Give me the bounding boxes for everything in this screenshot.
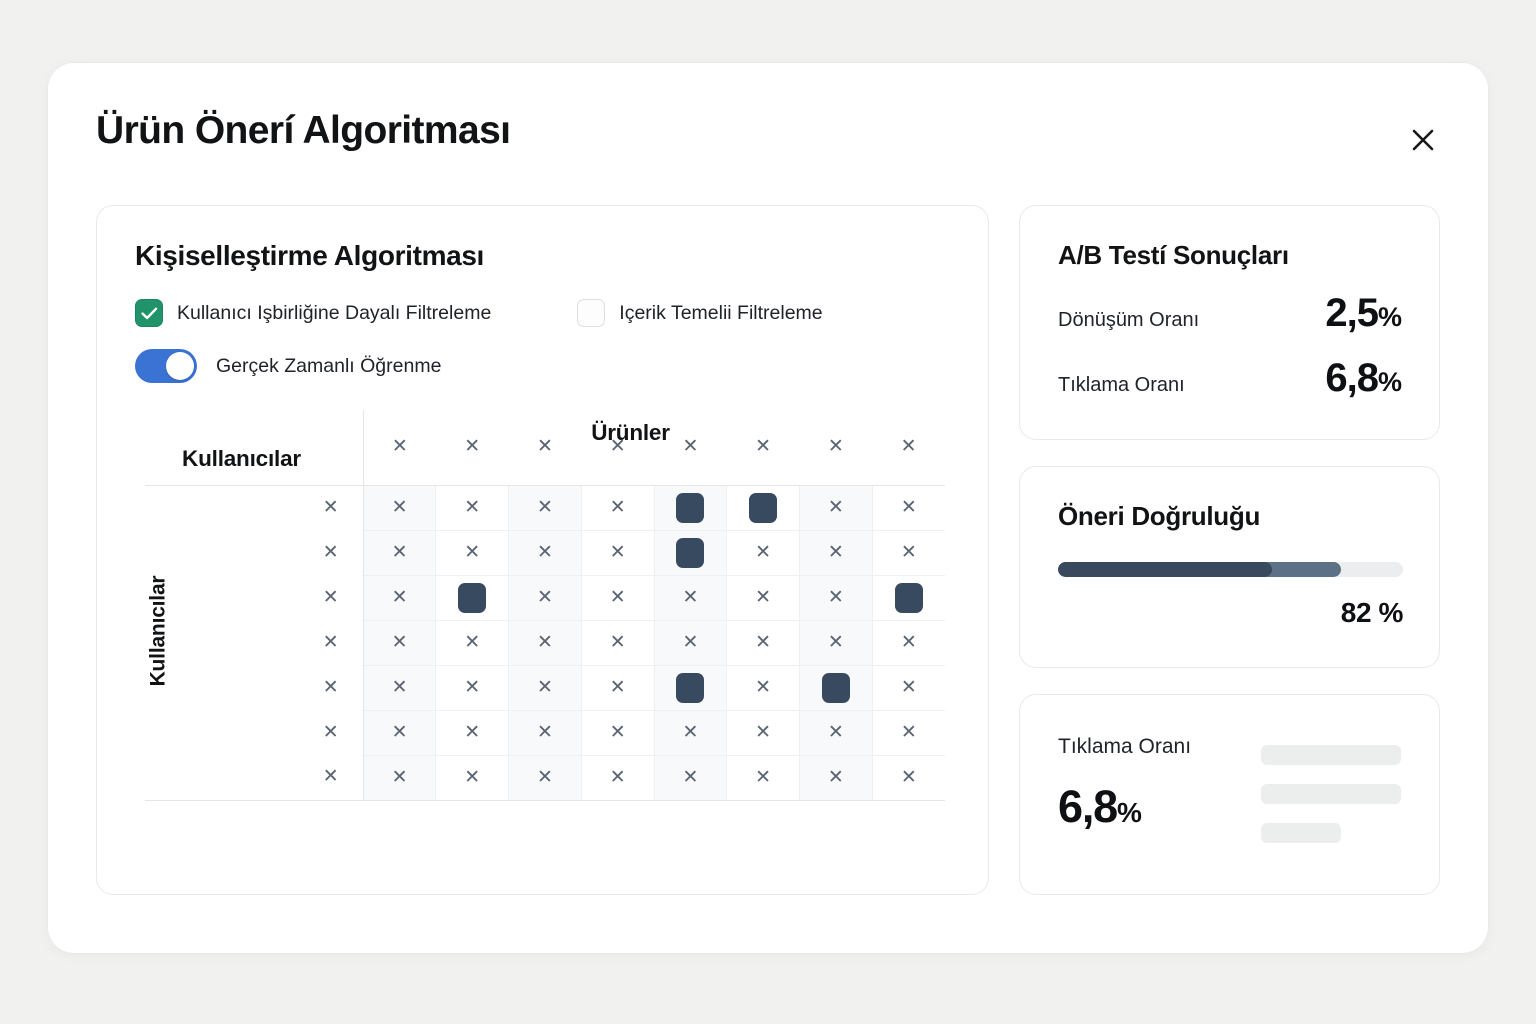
matrix-row: ✕✕✕✕✕✕✕✕✕ xyxy=(145,710,945,755)
matrix-row: ✕✕✕✕✕✕✕ xyxy=(145,665,945,710)
matrix-cell-empty[interactable]: ✕ xyxy=(363,485,436,530)
matrix-row: ✕✕✕✕✕✕✕ xyxy=(145,575,945,620)
matrix-column-header: ✕ xyxy=(581,410,654,485)
realtime-learning-row: Gerçek Zamanlı Öğrenme xyxy=(135,349,950,383)
x-icon: ✕ xyxy=(610,723,626,742)
matrix-header-row: ✕✕✕✕✕✕✕✕ xyxy=(145,410,945,485)
x-icon: ✕ xyxy=(755,588,771,607)
click-through-rate-card: Tıklama Oranı 6,8% xyxy=(1019,694,1440,895)
matrix-cell-empty[interactable]: ✕ xyxy=(799,530,872,575)
checkbox-collaborative-filtering[interactable]: Kullanıcı Işbirliğine Dayalı Filtreleme xyxy=(135,299,491,327)
matrix-cell-empty[interactable]: ✕ xyxy=(509,620,582,665)
x-icon: ✕ xyxy=(537,588,553,607)
checkbox-content-based-filtering-label: Içerik Temelii Filtreleme xyxy=(619,302,822,325)
accuracy-progress-bar xyxy=(1058,562,1403,577)
matrix-column-header: ✕ xyxy=(799,410,872,485)
matrix-row-header: ✕ xyxy=(145,530,363,575)
toggle-realtime-learning-label: Gerçek Zamanlı Öğrenme xyxy=(216,355,441,378)
x-icon: ✕ xyxy=(537,723,553,742)
user-product-matrix: Kullanıcılar Ürünler Kullanıcılar ✕✕✕✕✕✕… xyxy=(135,410,965,830)
matrix-cell-marker xyxy=(676,673,704,703)
matrix-cell-marker xyxy=(749,493,777,523)
x-icon: ✕ xyxy=(828,768,844,787)
section-title: Kişiselleştirme Algoritması xyxy=(135,240,950,272)
matrix-row-header: ✕ xyxy=(145,575,363,620)
ctr-card-value: 6,8% xyxy=(1058,781,1191,833)
x-icon: ✕ xyxy=(323,678,339,697)
matrix-cell-empty[interactable]: ✕ xyxy=(581,620,654,665)
x-icon: ✕ xyxy=(610,678,626,697)
x-icon: ✕ xyxy=(755,768,771,787)
matrix-cell-empty[interactable]: ✕ xyxy=(872,755,945,800)
matrix-cell-filled[interactable] xyxy=(799,665,872,710)
matrix-cell-marker xyxy=(458,583,486,613)
x-icon: ✕ xyxy=(682,768,698,787)
matrix-cell-filled[interactable] xyxy=(654,485,727,530)
metric-value-click-through-rate: 6,8% xyxy=(1325,356,1401,401)
x-icon: ✕ xyxy=(901,633,917,652)
matrix-row-header: ✕ xyxy=(145,665,363,710)
matrix-cell-empty[interactable]: ✕ xyxy=(654,710,727,755)
matrix-cell-empty[interactable]: ✕ xyxy=(872,665,945,710)
matrix-row-header: ✕ xyxy=(145,485,363,530)
matrix-table-area: ✕✕✕✕✕✕✕✕ ✕✕✕✕✕✕✕✕✕✕✕✕✕✕✕✕✕✕✕✕✕✕✕✕✕✕✕✕✕✕✕… xyxy=(145,410,945,801)
x-icon: ✕ xyxy=(682,723,698,742)
matrix-cell-empty[interactable]: ✕ xyxy=(509,665,582,710)
toggle-knob xyxy=(166,352,194,380)
x-icon: ✕ xyxy=(537,768,553,787)
x-icon: ✕ xyxy=(828,588,844,607)
matrix-cell-empty[interactable]: ✕ xyxy=(727,575,800,620)
x-icon: ✕ xyxy=(828,498,844,517)
accuracy-progress-value: 82 % xyxy=(1058,597,1403,629)
matrix-cell-empty[interactable]: ✕ xyxy=(581,710,654,755)
matrix-cell-marker xyxy=(676,538,704,568)
matrix-cell-empty[interactable]: ✕ xyxy=(872,710,945,755)
ctr-card-grid: Tıklama Oranı 6,8% xyxy=(1058,733,1401,843)
metric-unit-conversion-rate: % xyxy=(1378,302,1401,332)
ctr-card-value-number: 6,8 xyxy=(1058,781,1117,832)
x-icon: ✕ xyxy=(537,498,553,517)
metric-label-conversion-rate: Dönüşüm Oranı xyxy=(1058,309,1199,332)
matrix-cell-empty[interactable]: ✕ xyxy=(799,485,872,530)
product-recommendation-dialog: Ürün Önerí Algoritması Kişiselleştirme A… xyxy=(48,63,1488,953)
matrix-cell-filled[interactable] xyxy=(872,575,945,620)
ctr-card-left: Tıklama Oranı 6,8% xyxy=(1058,733,1191,833)
matrix-cell-empty[interactable]: ✕ xyxy=(799,575,872,620)
matrix-cell-empty[interactable]: ✕ xyxy=(436,620,509,665)
ctr-card-value-unit: % xyxy=(1117,797,1141,828)
metrics-column: A/B Testí Sonuçları Dönüşüm Oranı 2,5% T… xyxy=(1019,205,1440,895)
matrix-column-header: ✕ xyxy=(654,410,727,485)
matrix-cell-empty[interactable]: ✕ xyxy=(363,710,436,755)
x-icon: ✕ xyxy=(682,588,698,607)
checkbox-unchecked-icon[interactable] xyxy=(577,299,605,327)
x-icon: ✕ xyxy=(464,437,480,456)
x-icon: ✕ xyxy=(537,633,553,652)
toggle-realtime-learning[interactable]: Gerçek Zamanlı Öğrenme xyxy=(135,349,441,383)
x-icon: ✕ xyxy=(828,437,844,456)
personalization-algorithm-panel: Kişiselleştirme Algoritması Kullanıcı Iş… xyxy=(96,205,989,895)
matrix-column-header: ✕ xyxy=(727,410,800,485)
matrix-cell-empty[interactable]: ✕ xyxy=(581,575,654,620)
matrix-cell-empty[interactable]: ✕ xyxy=(581,755,654,800)
matrix-corner-cell xyxy=(145,410,363,485)
matrix-cell-empty[interactable]: ✕ xyxy=(872,485,945,530)
matrix-column-header: ✕ xyxy=(509,410,582,485)
x-icon: ✕ xyxy=(392,543,408,562)
x-icon: ✕ xyxy=(610,768,626,787)
matrix-cell-empty[interactable]: ✕ xyxy=(872,620,945,665)
checkbox-content-based-filtering[interactable]: Içerik Temelii Filtreleme xyxy=(577,299,822,327)
matrix-cell-empty[interactable]: ✕ xyxy=(436,755,509,800)
matrix-row-header: ✕ xyxy=(145,755,363,800)
x-icon: ✕ xyxy=(537,678,553,697)
x-icon: ✕ xyxy=(464,678,480,697)
x-icon: ✕ xyxy=(682,437,698,456)
matrix-cell-empty[interactable]: ✕ xyxy=(509,485,582,530)
matrix-cell-empty[interactable]: ✕ xyxy=(509,710,582,755)
x-icon: ✕ xyxy=(323,767,339,786)
x-icon: ✕ xyxy=(323,498,339,517)
matrix-cell-empty[interactable]: ✕ xyxy=(654,755,727,800)
matrix-cell-empty[interactable]: ✕ xyxy=(654,575,727,620)
recommendation-accuracy-title: Öneri Doğruluğu xyxy=(1058,501,1401,532)
x-icon: ✕ xyxy=(464,723,480,742)
x-icon: ✕ xyxy=(755,633,771,652)
matrix-column-header: ✕ xyxy=(363,410,436,485)
x-icon: ✕ xyxy=(682,633,698,652)
x-icon: ✕ xyxy=(901,678,917,697)
x-icon: ✕ xyxy=(392,498,408,517)
x-icon: ✕ xyxy=(755,437,771,456)
matrix-body: ✕✕✕✕✕✕✕✕✕✕✕✕✕✕✕✕✕✕✕✕✕✕✕✕✕✕✕✕✕✕✕✕✕✕✕✕✕✕✕✕… xyxy=(145,485,945,800)
matrix-cell-empty[interactable]: ✕ xyxy=(509,575,582,620)
metric-value-click-through-rate-number: 6,8 xyxy=(1325,356,1378,400)
matrix-row-header: ✕ xyxy=(145,710,363,755)
x-icon: ✕ xyxy=(610,588,626,607)
matrix-cell-empty[interactable]: ✕ xyxy=(799,755,872,800)
matrix-cell-empty[interactable]: ✕ xyxy=(727,665,800,710)
x-icon: ✕ xyxy=(610,498,626,517)
metric-row-conversion-rate: Dönüşüm Oranı 2,5% xyxy=(1058,291,1401,336)
x-icon: ✕ xyxy=(610,437,626,456)
toggle-switch-on-icon[interactable] xyxy=(135,349,197,383)
matrix-cell-empty[interactable]: ✕ xyxy=(799,710,872,755)
x-icon: ✕ xyxy=(901,543,917,562)
matrix-cell-empty[interactable]: ✕ xyxy=(727,755,800,800)
x-icon: ✕ xyxy=(464,543,480,562)
skeleton-bar xyxy=(1261,745,1401,765)
matrix-cell-marker xyxy=(822,673,850,703)
x-icon: ✕ xyxy=(755,678,771,697)
x-icon: ✕ xyxy=(828,543,844,562)
x-icon: ✕ xyxy=(323,588,339,607)
matrix-cell-empty[interactable]: ✕ xyxy=(436,710,509,755)
x-icon: ✕ xyxy=(392,678,408,697)
matrix-cell-empty[interactable]: ✕ xyxy=(654,620,727,665)
x-icon: ✕ xyxy=(610,633,626,652)
recommendation-accuracy-card: Öneri Doğruluğu 82 % xyxy=(1019,466,1440,667)
matrix-cell-marker xyxy=(676,493,704,523)
matrix-cell-empty[interactable]: ✕ xyxy=(581,530,654,575)
x-icon: ✕ xyxy=(610,543,626,562)
dialog-body: Kişiselleştirme Algoritması Kullanıcı Iş… xyxy=(96,205,1440,895)
x-icon: ✕ xyxy=(537,543,553,562)
matrix-cell-empty[interactable]: ✕ xyxy=(581,485,654,530)
matrix-cell-empty[interactable]: ✕ xyxy=(799,620,872,665)
x-icon: ✕ xyxy=(901,768,917,787)
x-icon: ✕ xyxy=(392,588,408,607)
x-icon: ✕ xyxy=(323,543,339,562)
matrix-cell-empty[interactable]: ✕ xyxy=(436,530,509,575)
matrix-cell-empty[interactable]: ✕ xyxy=(363,530,436,575)
metric-value-conversion-rate-number: 2,5 xyxy=(1325,291,1378,335)
matrix-cell-empty[interactable]: ✕ xyxy=(872,530,945,575)
dialog-header: Ürün Önerí Algoritması xyxy=(48,63,1488,203)
matrix-row: ✕✕✕✕✕✕✕✕✕ xyxy=(145,620,945,665)
ctr-skeleton-placeholders xyxy=(1261,733,1401,843)
matrix-row: ✕✕✕✕✕✕✕✕✕ xyxy=(145,755,945,800)
matrix-cell-empty[interactable]: ✕ xyxy=(436,485,509,530)
skeleton-bar xyxy=(1261,784,1401,804)
matrix-cell-empty[interactable]: ✕ xyxy=(509,755,582,800)
matrix-row: ✕✕✕✕✕✕✕✕ xyxy=(145,530,945,575)
x-icon: ✕ xyxy=(464,768,480,787)
page-title: Ürün Önerí Algoritması xyxy=(96,109,510,153)
x-icon: ✕ xyxy=(323,633,339,652)
matrix-cell-filled[interactable] xyxy=(654,665,727,710)
ab-test-card-title: A/B Testí Sonuçları xyxy=(1058,240,1401,271)
checkbox-collaborative-filtering-label: Kullanıcı Işbirliğine Dayalı Filtreleme xyxy=(177,302,491,325)
matrix-row: ✕✕✕✕✕✕✕ xyxy=(145,485,945,530)
checkbox-checked-icon[interactable] xyxy=(135,299,163,327)
x-icon: ✕ xyxy=(828,633,844,652)
matrix-table: ✕✕✕✕✕✕✕✕ ✕✕✕✕✕✕✕✕✕✕✕✕✕✕✕✕✕✕✕✕✕✕✕✕✕✕✕✕✕✕✕… xyxy=(145,410,945,801)
x-icon: ✕ xyxy=(901,437,917,456)
matrix-cell-empty[interactable]: ✕ xyxy=(363,665,436,710)
x-icon: ✕ xyxy=(537,437,553,456)
x-icon: ✕ xyxy=(755,723,771,742)
matrix-column-header: ✕ xyxy=(872,410,945,485)
matrix-row-header: ✕ xyxy=(145,620,363,665)
matrix-cell-empty[interactable]: ✕ xyxy=(363,575,436,620)
x-icon: ✕ xyxy=(901,498,917,517)
filter-options-row: Kullanıcı Işbirliğine Dayalı Filtreleme … xyxy=(135,299,950,327)
x-icon: ✕ xyxy=(323,723,339,742)
x-icon: ✕ xyxy=(392,437,408,456)
matrix-cell-empty[interactable]: ✕ xyxy=(581,665,654,710)
metric-label-click-through-rate: Tıklama Oranı xyxy=(1058,374,1185,397)
matrix-cell-empty[interactable]: ✕ xyxy=(436,665,509,710)
matrix-cell-empty[interactable]: ✕ xyxy=(509,530,582,575)
x-icon: ✕ xyxy=(755,543,771,562)
skeleton-bar xyxy=(1261,823,1341,843)
metric-value-conversion-rate: 2,5% xyxy=(1325,291,1401,336)
matrix-cell-empty[interactable]: ✕ xyxy=(727,710,800,755)
matrix-cell-filled[interactable] xyxy=(436,575,509,620)
ab-test-card: A/B Testí Sonuçları Dönüşüm Oranı 2,5% T… xyxy=(1019,205,1440,440)
matrix-cell-marker xyxy=(895,583,923,613)
x-icon: ✕ xyxy=(464,498,480,517)
x-icon: ✕ xyxy=(392,633,408,652)
matrix-cell-empty[interactable]: ✕ xyxy=(363,620,436,665)
ctr-card-label: Tıklama Oranı xyxy=(1058,735,1191,759)
matrix-cell-filled[interactable] xyxy=(727,485,800,530)
matrix-cell-empty[interactable]: ✕ xyxy=(727,530,800,575)
x-icon: ✕ xyxy=(464,633,480,652)
accuracy-progress-fill xyxy=(1058,562,1272,577)
metric-row-click-through-rate: Tıklama Oranı 6,8% xyxy=(1058,356,1401,401)
x-icon: ✕ xyxy=(828,723,844,742)
matrix-cell-empty[interactable]: ✕ xyxy=(363,755,436,800)
x-icon: ✕ xyxy=(392,723,408,742)
x-icon: ✕ xyxy=(392,768,408,787)
metric-unit-click-through-rate: % xyxy=(1378,367,1401,397)
matrix-cell-empty[interactable]: ✕ xyxy=(727,620,800,665)
matrix-column-header: ✕ xyxy=(436,410,509,485)
close-icon[interactable] xyxy=(1402,119,1444,161)
matrix-cell-filled[interactable] xyxy=(654,530,727,575)
x-icon: ✕ xyxy=(901,723,917,742)
